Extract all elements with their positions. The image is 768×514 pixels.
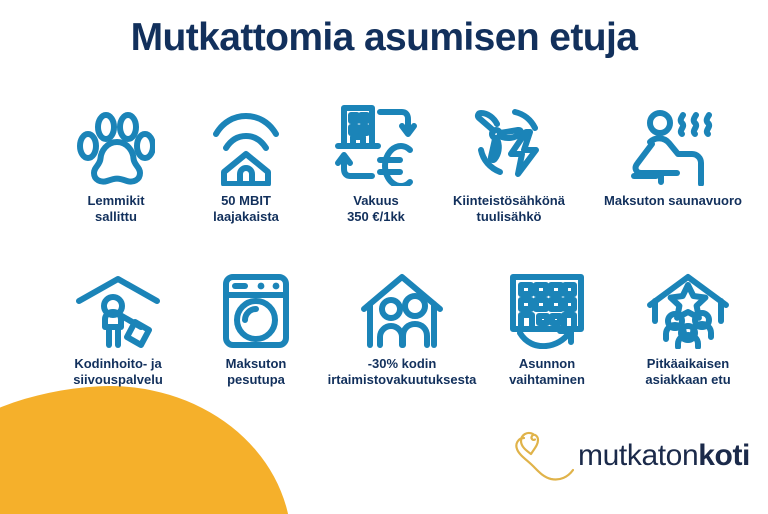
benefit-label: Pitkäaikaisen asiakkaan etu (610, 356, 766, 388)
benefit-item-cleaning: Kodinhoito- ja siivouspalvelu (38, 267, 198, 388)
benefit-item-pets: Lemmikit sallittu (46, 104, 186, 225)
poster-canvas: Mutkattomia asumisen etuja Lemmikit sall… (0, 0, 768, 514)
washing-machine-icon (186, 267, 326, 349)
house-star-people-icon (610, 267, 766, 349)
benefit-item-broadband: 50 MBIT laajakaista (176, 104, 316, 225)
wifi-house-icon (176, 104, 316, 186)
benefit-label: Lemmikit sallittu (46, 193, 186, 225)
benefit-item-windpower: Kiinteistösähkönä tuulisähkö (424, 104, 594, 225)
brand-logo[interactable]: mutkatonkoti (512, 428, 750, 484)
page-title: Mutkattomia asumisen etuja (0, 16, 768, 60)
benefit-item-sauna: Maksuton saunavuoro (580, 104, 766, 209)
wind-turbine-lightning-icon (424, 104, 594, 186)
paw-print-icon (46, 104, 186, 186)
brand-name: mutkatonkoti (578, 441, 750, 471)
sauna-person-steam-icon (580, 104, 766, 186)
benefit-label: Asunnon vaihtaminen (472, 356, 622, 388)
benefit-item-apartment-swap: Asunnon vaihtaminen (472, 267, 622, 388)
benefit-label: -30% kodin irtaimistovakuutuksesta (312, 356, 492, 388)
heart-swirl-icon (512, 428, 574, 484)
benefit-item-laundry: Maksuton pesutupa (186, 267, 326, 388)
benefit-item-insurance: -30% kodin irtaimistovakuutuksesta (312, 267, 492, 388)
benefit-label: Kodinhoito- ja siivouspalvelu (38, 356, 198, 388)
cleaning-person-broom-icon (38, 267, 198, 349)
benefit-item-loyalty: Pitkäaikaisen asiakkaan etu (610, 267, 766, 388)
benefit-label: 50 MBIT laajakaista (176, 193, 316, 225)
house-two-people-icon (312, 267, 492, 349)
benefit-label: Maksuton pesutupa (186, 356, 326, 388)
apartment-swap-arrow-icon (472, 267, 622, 349)
brand-name-bold: koti (698, 439, 750, 472)
benefit-label: Kiinteistösähkönä tuulisähkö (424, 193, 594, 225)
brand-name-regular: mutkaton (578, 439, 698, 472)
benefit-label: Maksuton saunavuoro (580, 193, 766, 209)
